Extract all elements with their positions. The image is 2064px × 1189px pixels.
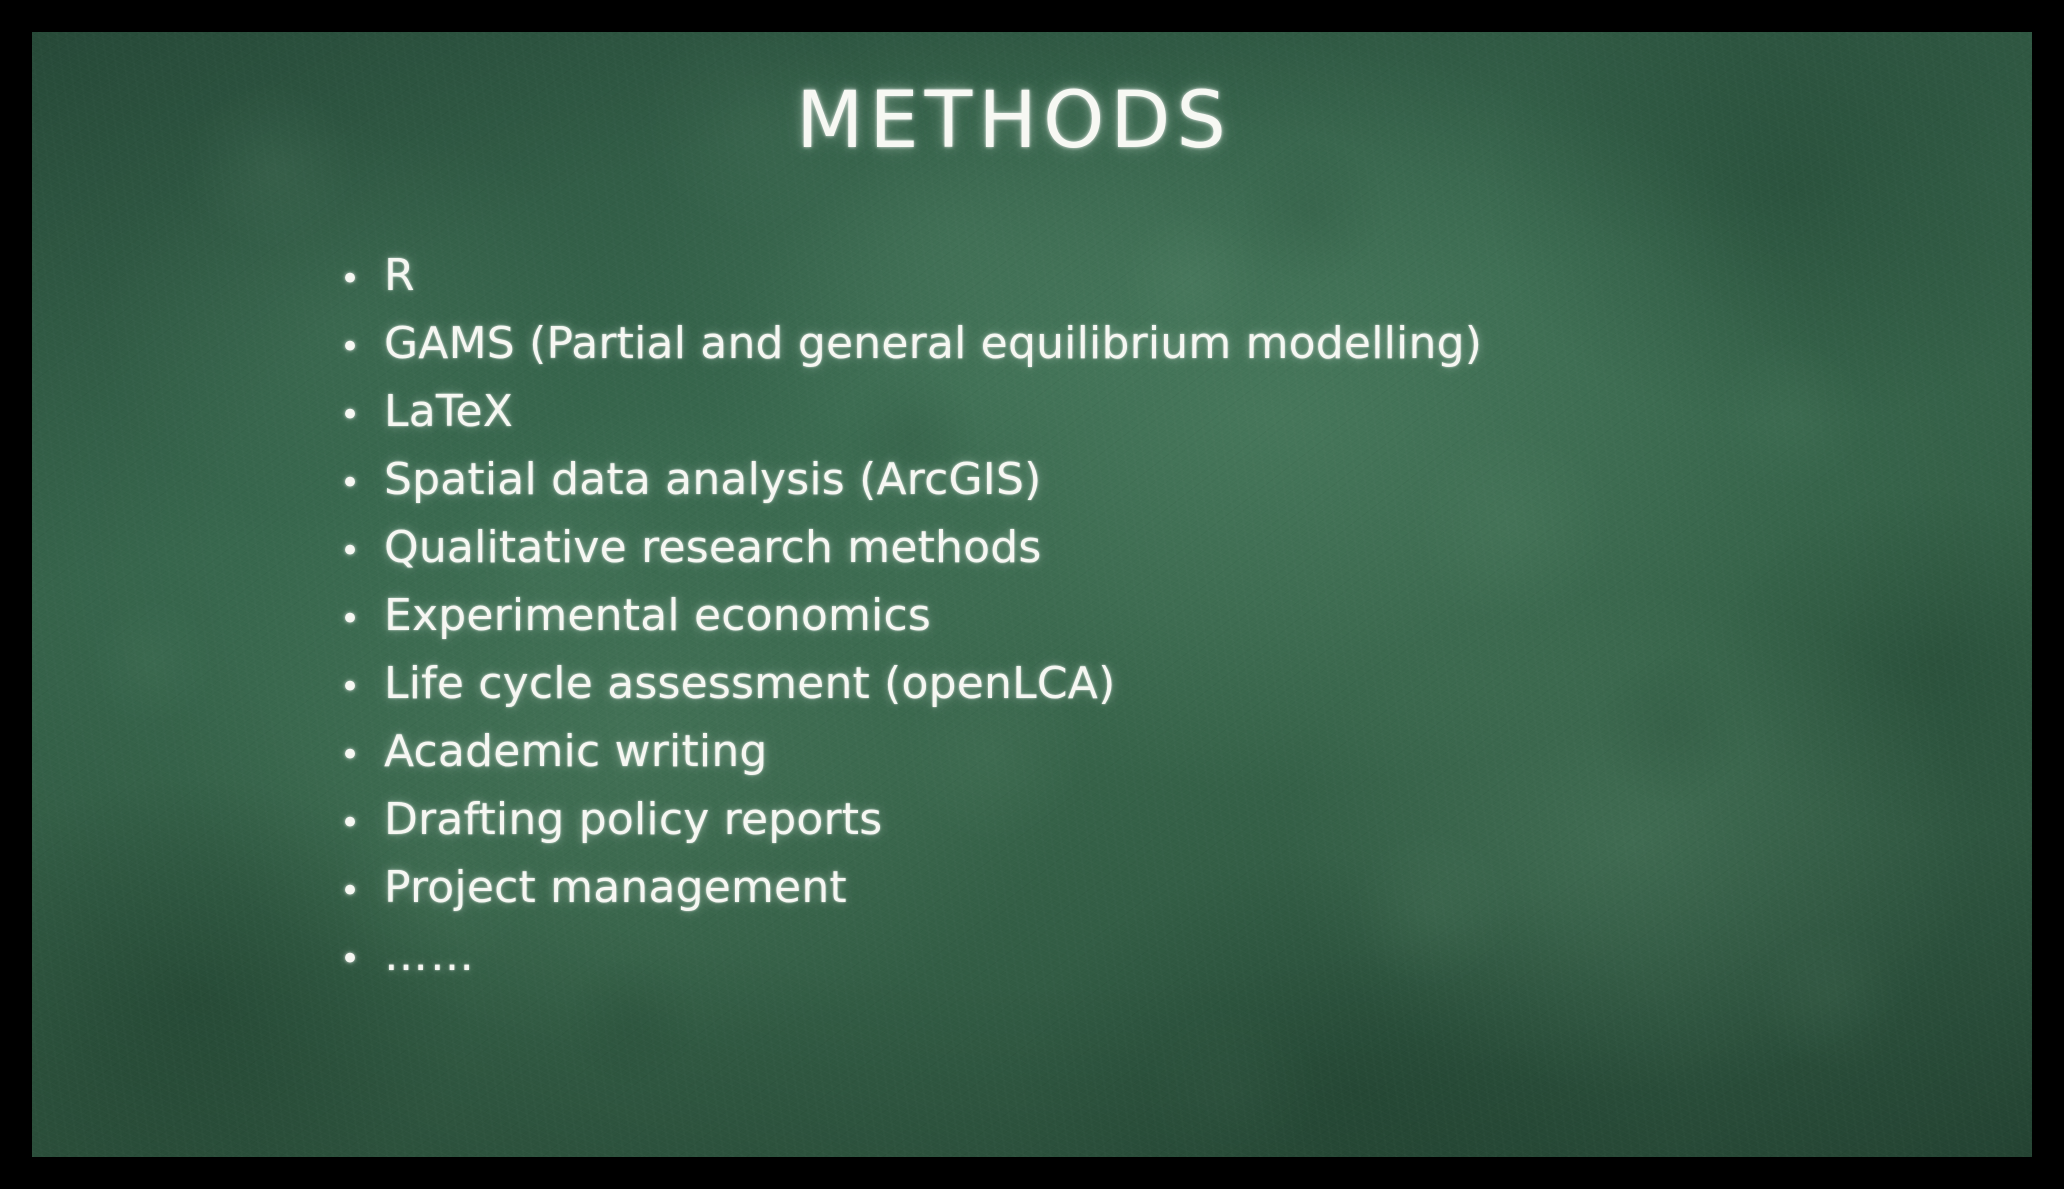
bullet-dot-icon: • <box>340 806 384 840</box>
methods-bullet-list: • R • GAMS (Partial and general equilibr… <box>340 250 1840 998</box>
slide-frame: METHODS • R • GAMS (Partial and general … <box>0 0 2064 1189</box>
bullet-dot-icon: • <box>340 330 384 364</box>
list-item: • Academic writing <box>340 726 1840 794</box>
list-item-label: Experimental economics <box>384 590 1840 641</box>
list-item-label: Spatial data analysis (ArcGIS) <box>384 454 1840 505</box>
list-item: • Qualitative research methods <box>340 522 1840 590</box>
list-item-label: R <box>384 250 1840 301</box>
list-item: • Drafting policy reports <box>340 794 1840 862</box>
list-item: • Spatial data analysis (ArcGIS) <box>340 454 1840 522</box>
list-item-label: Project management <box>384 862 1840 913</box>
slide-content: METHODS • R • GAMS (Partial and general … <box>0 0 2064 1189</box>
list-item: • Life cycle assessment (openLCA) <box>340 658 1840 726</box>
list-item: • GAMS (Partial and general equilibrium … <box>340 318 1840 386</box>
list-item-label: Qualitative research methods <box>384 522 1840 573</box>
bullet-dot-icon: • <box>340 670 384 704</box>
list-item-label: LaTeX <box>384 386 1840 437</box>
list-item: • Project management <box>340 862 1840 930</box>
page-title: METHODS <box>0 76 2028 166</box>
list-item: • Experimental economics <box>340 590 1840 658</box>
bullet-dot-icon: • <box>340 738 384 772</box>
list-item-label: …… <box>384 930 1840 981</box>
bullet-dot-icon: • <box>340 466 384 500</box>
list-item: • LaTeX <box>340 386 1840 454</box>
bullet-dot-icon: • <box>340 602 384 636</box>
list-item-label: GAMS (Partial and general equilibrium mo… <box>384 318 1840 369</box>
list-item: • …… <box>340 930 1840 998</box>
bullet-dot-icon: • <box>340 874 384 908</box>
bullet-dot-icon: • <box>340 942 384 976</box>
bullet-dot-icon: • <box>340 398 384 432</box>
bullet-dot-icon: • <box>340 262 384 296</box>
list-item-label: Academic writing <box>384 726 1840 777</box>
list-item: • R <box>340 250 1840 318</box>
list-item-label: Drafting policy reports <box>384 794 1840 845</box>
list-item-label: Life cycle assessment (openLCA) <box>384 658 1840 709</box>
bullet-dot-icon: • <box>340 534 384 568</box>
